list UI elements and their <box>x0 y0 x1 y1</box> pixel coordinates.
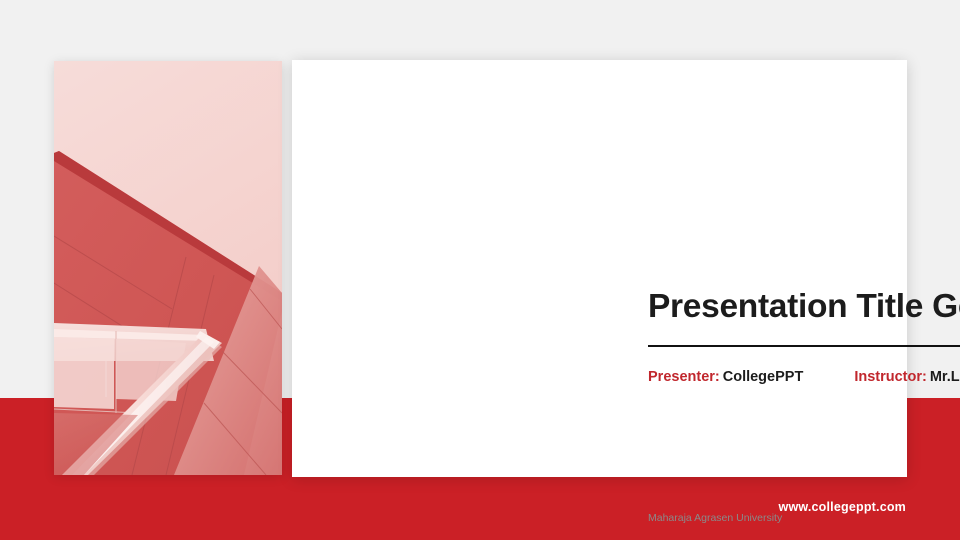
presenter-label: Presenter: <box>648 369 720 385</box>
slide-content-card: MAHARAJA AGRASEN UNIVERSITY <box>292 60 907 477</box>
instructor-value: Mr.Lu <box>930 369 960 385</box>
site-url-text: www.collegeppt.com <box>779 500 906 514</box>
instructor-credit: Instructor:Mr.Lu <box>854 369 960 385</box>
page-title: Presentation Title Goes Here <box>648 288 960 327</box>
instructor-label: Instructor: <box>854 369 927 385</box>
presenter-credit: Presenter:CollegePPT <box>648 369 803 385</box>
card-footer-text: Maharaja Agrasen University <box>648 512 782 524</box>
title-divider <box>648 345 960 347</box>
presenter-value: CollegePPT <box>723 369 804 385</box>
title-block: Presentation Title Goes Here <box>648 288 960 347</box>
credits-row: Presenter:CollegePPT Instructor:Mr.Lu <box>648 369 960 385</box>
abstract-architecture-photo <box>54 61 282 475</box>
slide-stage: www.collegeppt.com <box>0 0 960 540</box>
